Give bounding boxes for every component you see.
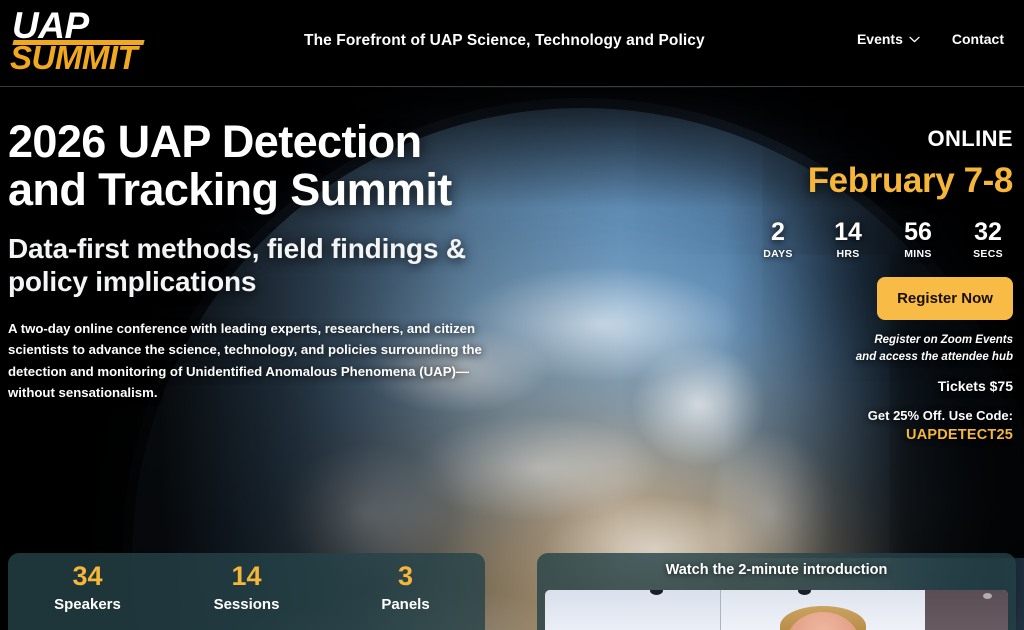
intro-video-caption: Watch the 2-minute introduction: [537, 562, 1016, 578]
stat-panels-label: Panels: [326, 596, 485, 613]
countdown-unit-days: 2 DAYS: [753, 219, 803, 260]
page-root: UAP SUMMIT The Forefront of UAP Science,…: [0, 0, 1024, 630]
promo-text: Get 25% Off. Use Code:: [683, 408, 1013, 423]
ticket-price: Tickets $75: [683, 378, 1013, 394]
stat-panels: 3 Panels: [326, 553, 485, 630]
countdown-minutes-value: 56: [893, 219, 943, 246]
video-pane-center: [721, 590, 925, 630]
stat-speakers: 34 Speakers: [8, 553, 167, 630]
countdown-days-value: 2: [753, 219, 803, 246]
stat-speakers-value: 34: [8, 562, 167, 592]
stat-sessions-label: Sessions: [167, 596, 326, 613]
main-navigation: Events Contact: [857, 31, 1004, 47]
register-now-button[interactable]: Register Now: [877, 277, 1013, 320]
event-info-panel: ONLINE February 7-8 2 DAYS 14 HRS 56 MIN…: [683, 126, 1013, 443]
register-button-row: Register Now: [683, 277, 1013, 320]
stat-panels-value: 3: [326, 562, 485, 592]
nav-item-events[interactable]: Events: [857, 31, 920, 47]
countdown-unit-seconds: 32 SECS: [963, 219, 1013, 260]
site-header: UAP SUMMIT The Forefront of UAP Science,…: [0, 0, 1024, 87]
registration-note-line-1: Register on Zoom Events: [683, 332, 1013, 349]
summit-stats-card: 34 Speakers 14 Sessions 3 Panels: [8, 553, 485, 630]
countdown-minutes-label: MINS: [893, 248, 943, 260]
video-pane-right: [925, 590, 1008, 630]
event-dates: February 7-8: [683, 161, 1013, 201]
intro-video-thumbnail[interactable]: [545, 590, 1008, 630]
hero-left-column: 2026 UAP Detection and Tracking Summit D…: [8, 118, 508, 404]
countdown-seconds-label: SECS: [963, 248, 1013, 260]
countdown-unit-hours: 14 HRS: [823, 219, 873, 260]
site-logo[interactable]: UAP SUMMIT: [8, 5, 148, 81]
video-artifact-highlight: [983, 593, 992, 599]
countdown-timer: 2 DAYS 14 HRS 56 MINS 32 SECS: [683, 219, 1013, 260]
countdown-seconds-value: 32: [963, 219, 1013, 246]
page-title: 2026 UAP Detection and Tracking Summit: [8, 118, 508, 214]
nav-item-contact-label: Contact: [952, 31, 1004, 47]
stat-sessions: 14 Sessions: [167, 553, 326, 630]
countdown-unit-minutes: 56 MINS: [893, 219, 943, 260]
countdown-hours-label: HRS: [823, 248, 873, 260]
hero-description: A two-day online conference with leading…: [8, 318, 490, 404]
countdown-days-label: DAYS: [753, 248, 803, 260]
video-artifact-dot-a: [650, 590, 663, 595]
hero-subtitle: Data-first methods, field findings & pol…: [8, 233, 508, 299]
promo-code: UAPDETECT25: [683, 427, 1013, 443]
nav-item-contact[interactable]: Contact: [952, 31, 1004, 47]
intro-video-card[interactable]: Watch the 2-minute introduction: [537, 553, 1016, 630]
stat-speakers-label: Speakers: [8, 596, 167, 613]
registration-note: Register on Zoom Events and access the a…: [683, 332, 1013, 365]
nav-item-events-label: Events: [857, 31, 903, 47]
countdown-hours-value: 14: [823, 219, 873, 246]
video-pane-left: [545, 590, 721, 630]
site-tagline: The Forefront of UAP Science, Technology…: [304, 32, 705, 50]
chevron-down-icon: [909, 36, 920, 43]
video-artifact-dot-b: [798, 590, 811, 595]
event-format-badge: ONLINE: [683, 126, 1013, 152]
stat-sessions-value: 14: [167, 562, 326, 592]
logo-text-summit: SUMMIT: [10, 41, 137, 74]
registration-note-line-2: and access the attendee hub: [683, 349, 1013, 366]
